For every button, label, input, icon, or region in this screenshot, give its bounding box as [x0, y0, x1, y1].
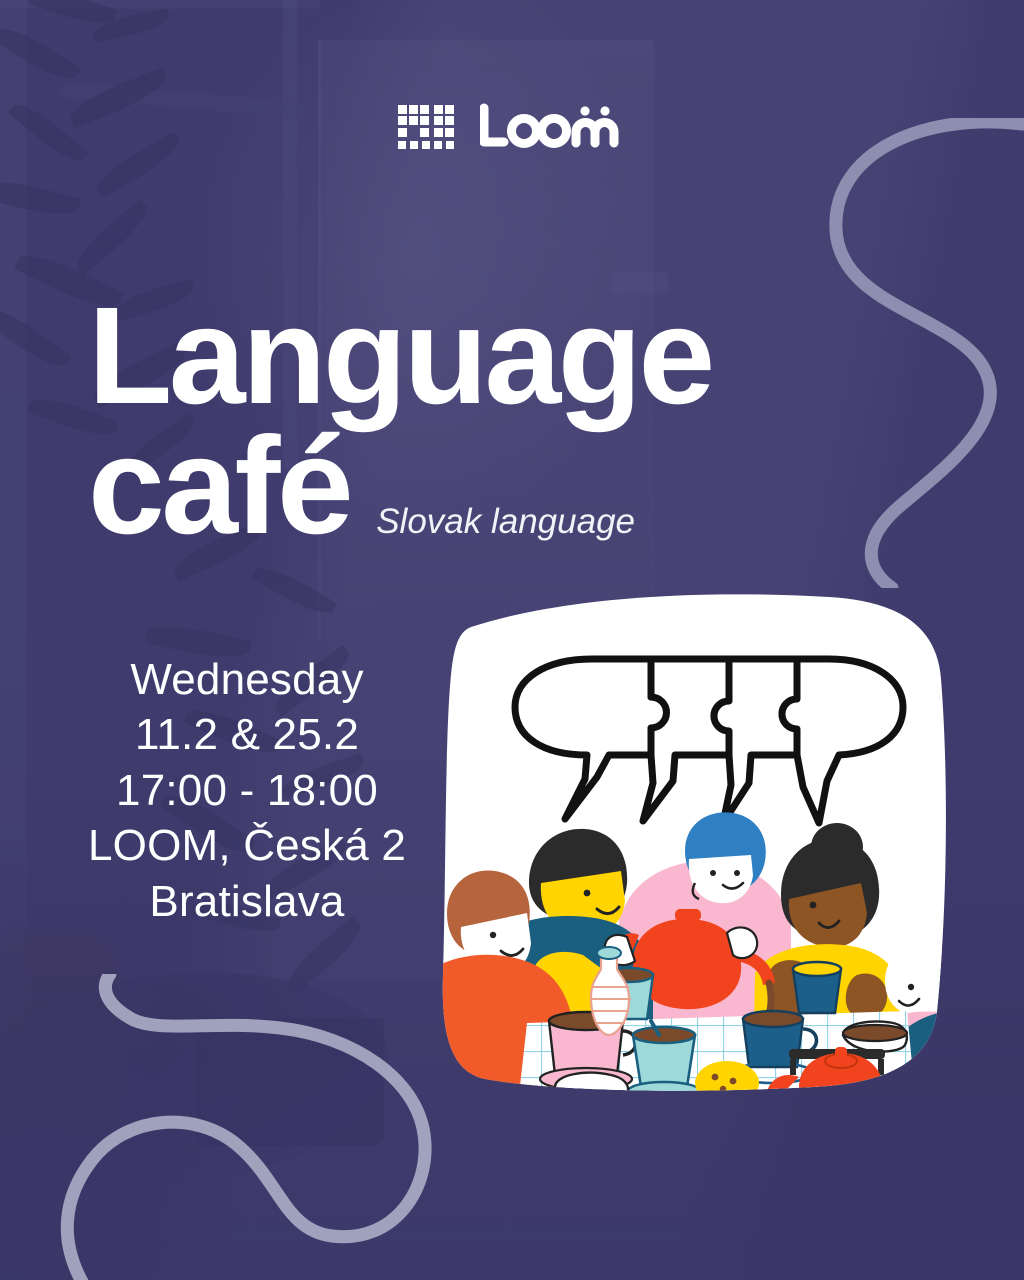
poster-root: Language café Slovak language Wednesday …	[0, 0, 1024, 1280]
loom-pixel-mark-icon	[398, 105, 454, 151]
mug-teal-glass	[628, 1021, 700, 1095]
mug-held-teal	[793, 962, 841, 1013]
event-details: Wednesday 11.2 & 25.2 17:00 - 18:00 LOOM…	[72, 652, 422, 929]
detail-venue: LOOM, Česká 2	[72, 818, 422, 873]
plate-bottom-left	[555, 1073, 628, 1095]
detail-dates: 11.2 & 25.2	[72, 707, 422, 762]
detail-day: Wednesday	[72, 652, 422, 707]
detail-city: Bratislava	[72, 874, 422, 929]
headline-line-2-row: café Slovak language	[88, 422, 712, 552]
illustration-card	[437, 583, 955, 1095]
tea-conversation-illustration	[437, 583, 955, 1095]
subtitle: Slovak language	[376, 506, 635, 539]
headline-line-2: café	[88, 422, 350, 552]
detail-time: 17:00 - 18:00	[72, 763, 422, 818]
headline: Language café Slovak language	[88, 292, 712, 551]
headline-line-1: Language	[88, 292, 712, 422]
brand-logo	[0, 102, 1024, 154]
loom-wordmark-icon	[480, 102, 626, 154]
